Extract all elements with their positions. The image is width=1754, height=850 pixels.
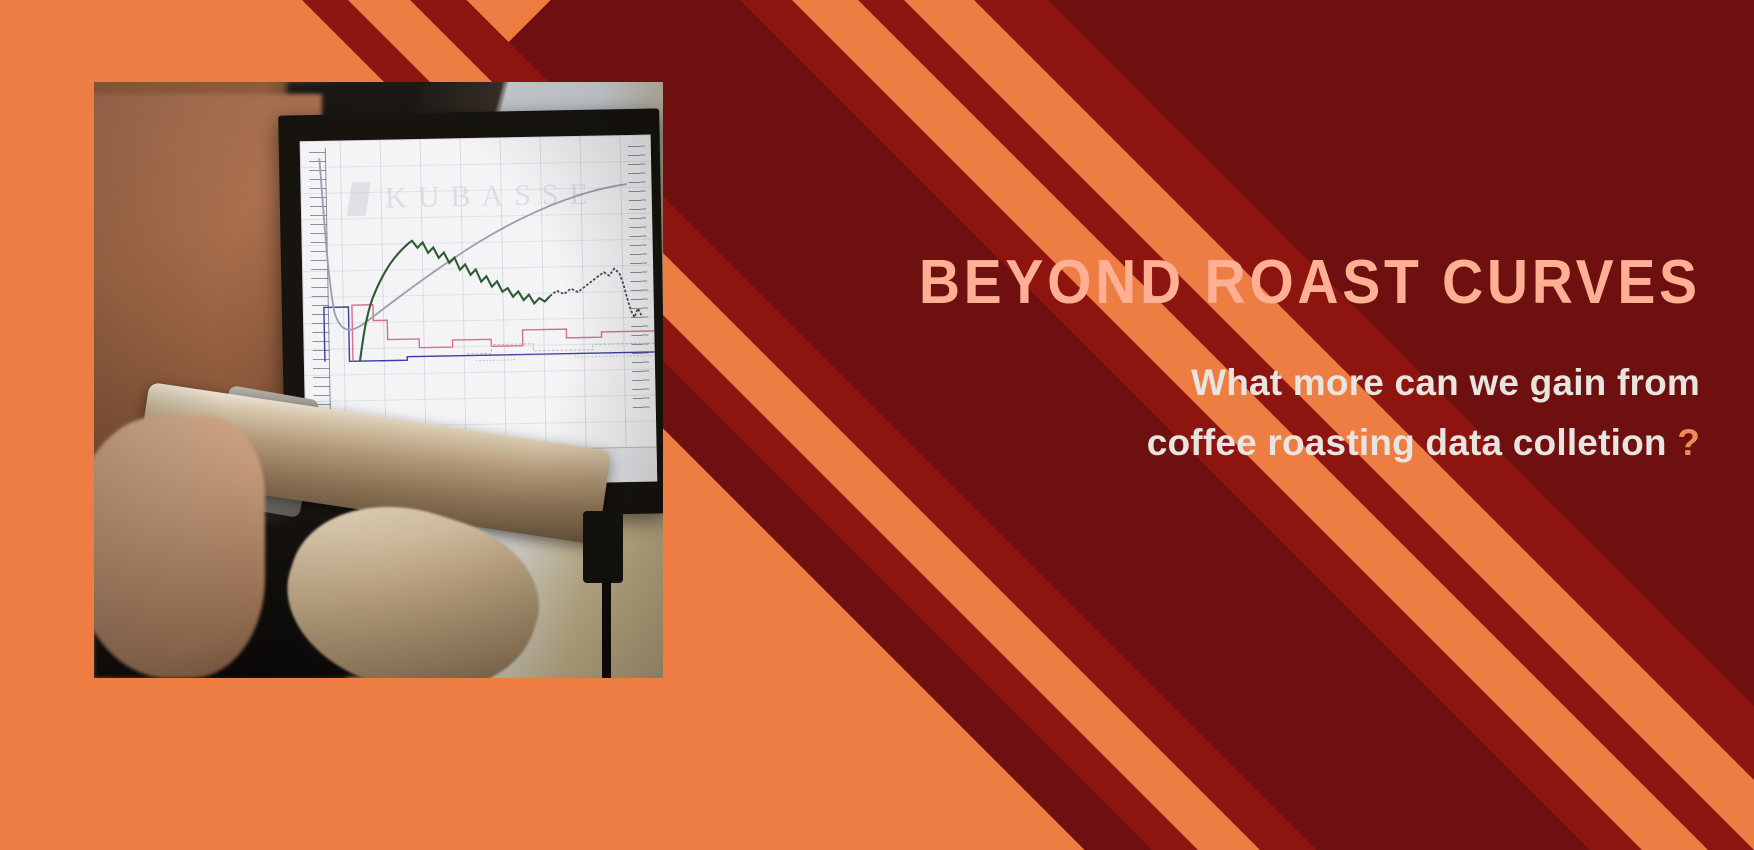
subtitle-line-1: What more can we gain from bbox=[1191, 362, 1700, 403]
slide-subtitle: What more can we gain from coffee roasti… bbox=[700, 353, 1710, 473]
subtitle-question-mark: ? bbox=[1677, 422, 1700, 463]
photo-vignette bbox=[94, 82, 663, 678]
subtitle-line-2: coffee roasting data colletion ? bbox=[700, 413, 1700, 473]
slide-canvas: KUBASSE 操 bbox=[0, 0, 1754, 850]
text-block: BEYOND ROAST CURVES What more can we gai… bbox=[700, 250, 1710, 473]
subtitle-line-2-text: coffee roasting data colletion bbox=[1147, 422, 1667, 463]
slide-title: BEYOND ROAST CURVES bbox=[781, 250, 1710, 315]
hero-photo: KUBASSE 操 bbox=[94, 82, 663, 678]
